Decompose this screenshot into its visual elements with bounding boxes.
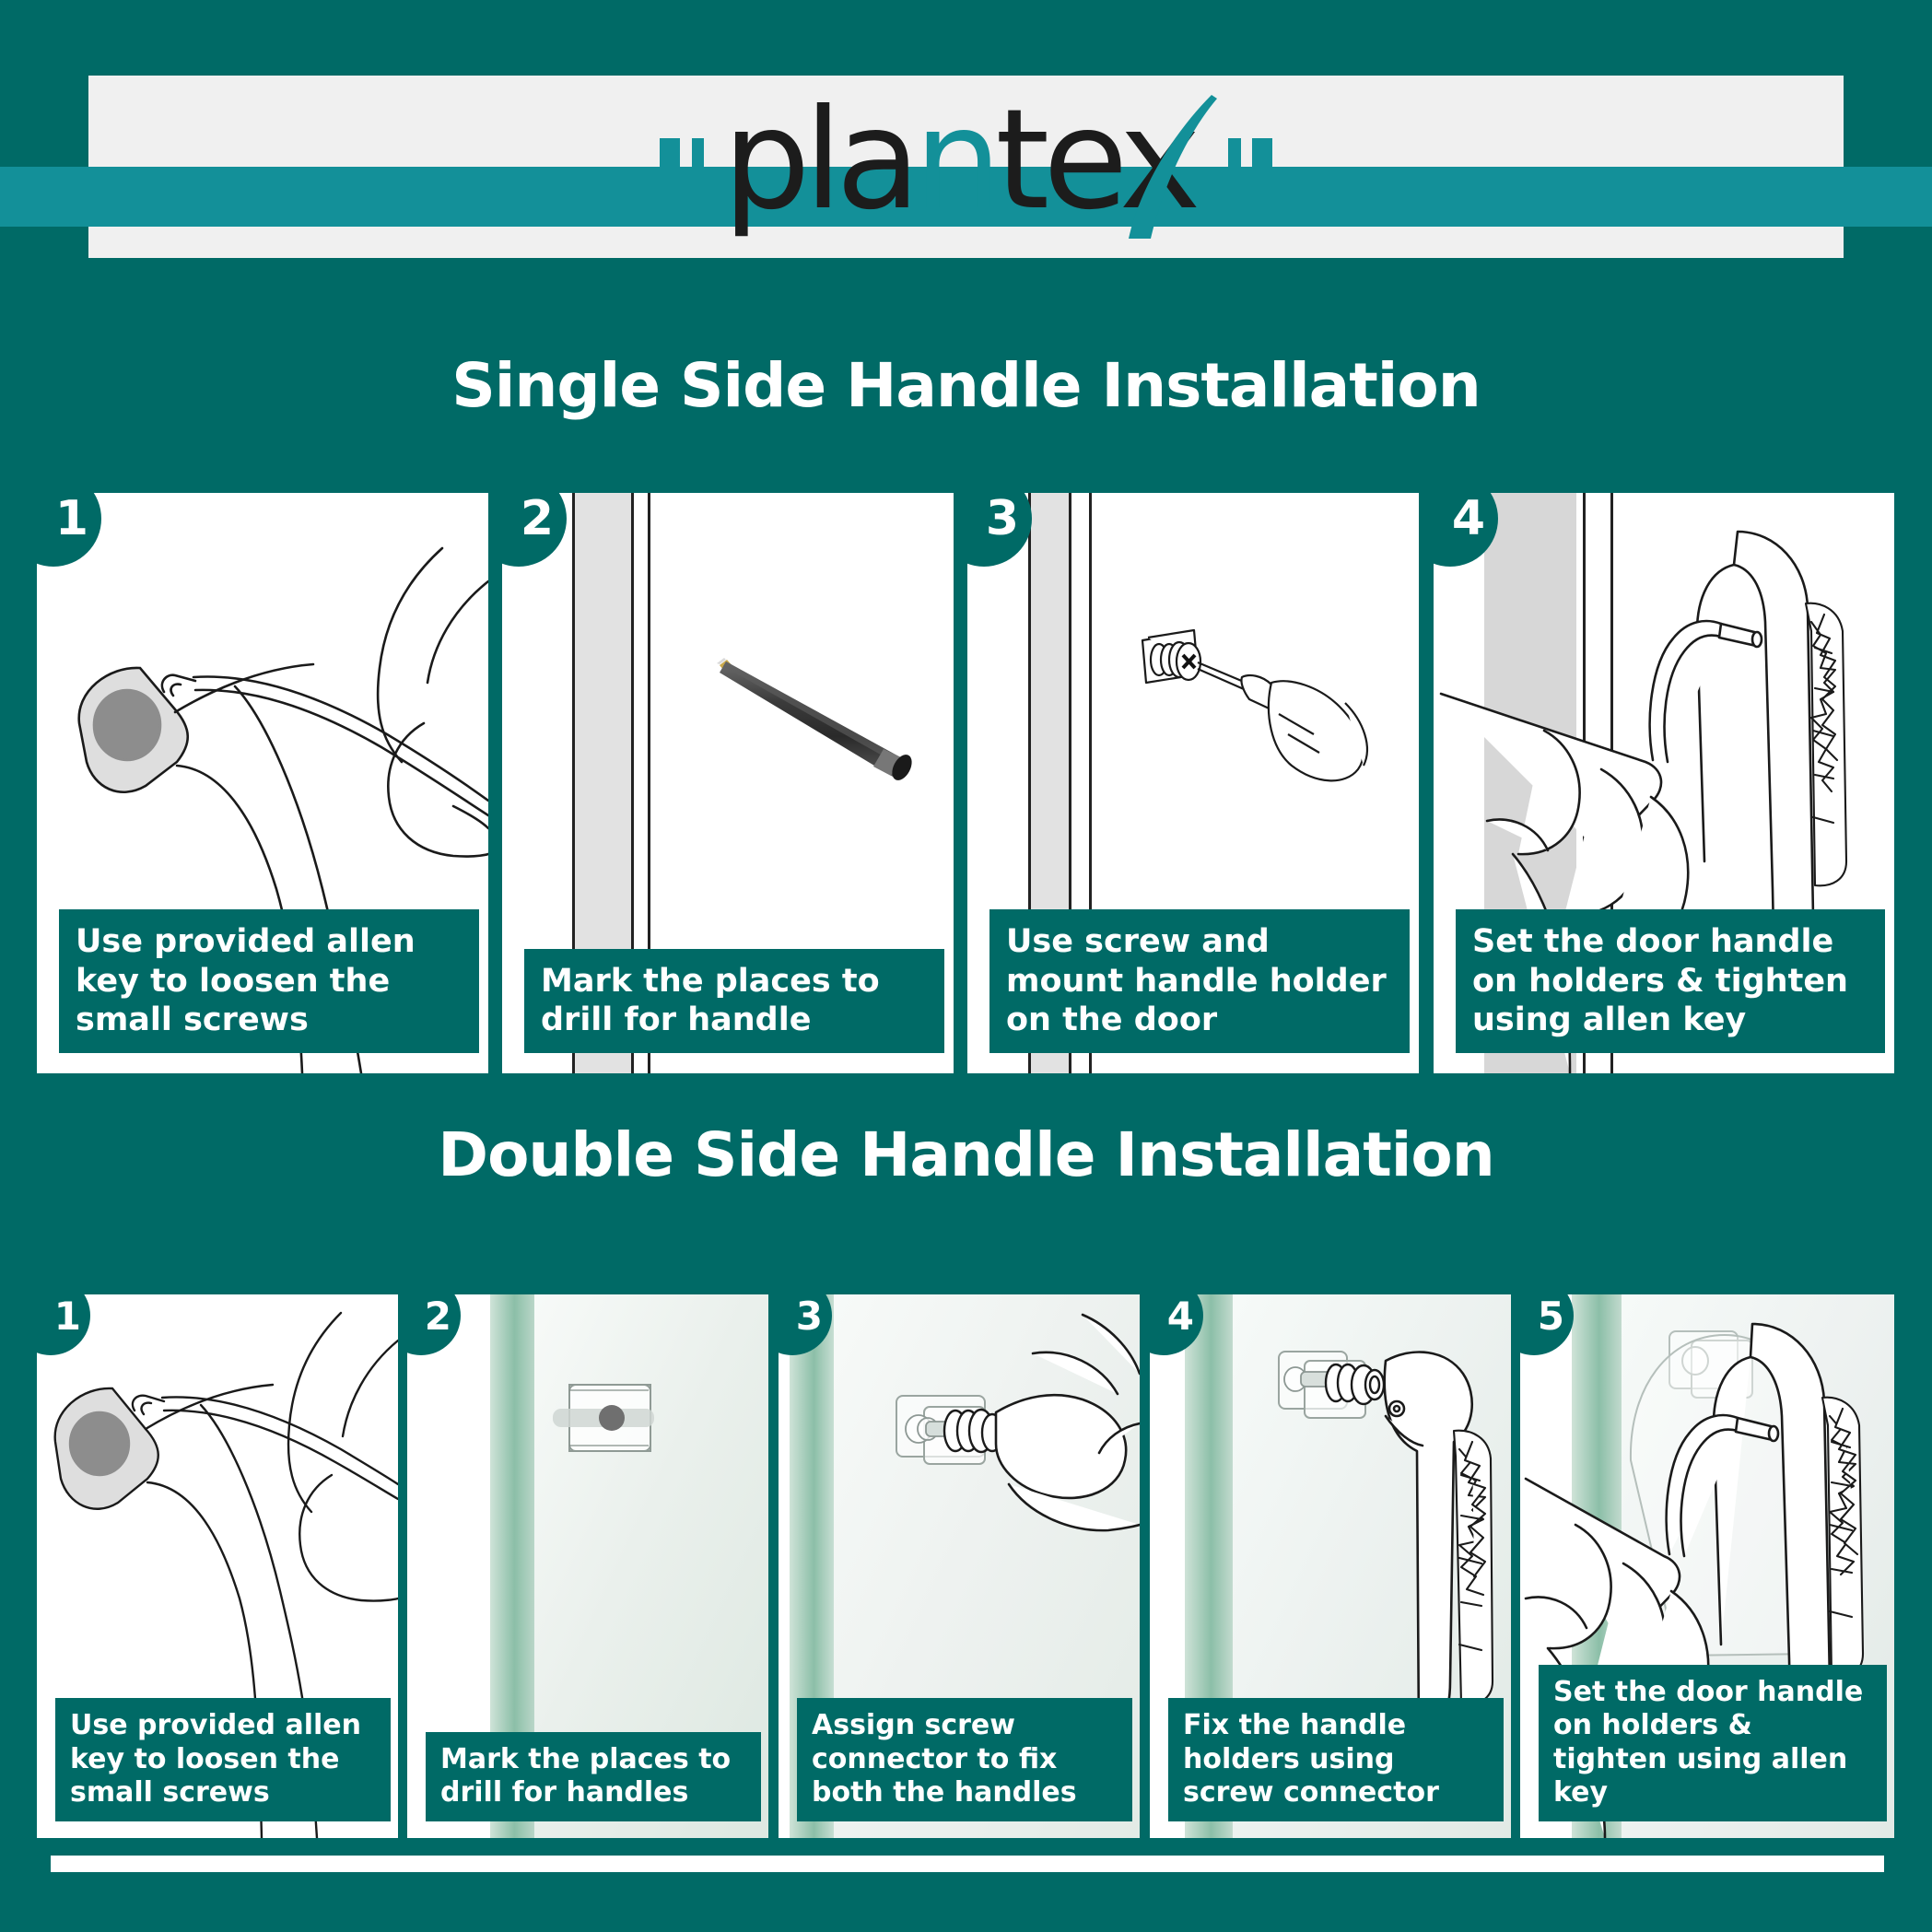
- step-caption: Set the door handle on holders & tighten…: [1456, 909, 1885, 1053]
- step-caption: Fix the handle holders using screw conne…: [1168, 1698, 1504, 1821]
- step-panel-single-2: 2 Mark the places to drill for handle: [502, 493, 954, 1073]
- section-title-single: Single Side Handle Installation: [0, 350, 1932, 421]
- section-title-double: Double Side Handle Installation: [0, 1119, 1932, 1190]
- step-panel-single-3: 3 Use screw and mount handle holder on t…: [967, 493, 1419, 1073]
- step-panel-single-4: 4 Set the door handle on holders & tight…: [1434, 493, 1894, 1073]
- brand-header: plantex: [0, 42, 1932, 291]
- brand-logo: plantex: [0, 42, 1932, 291]
- step-caption: Mark the places to drill for handle: [524, 949, 944, 1053]
- logo-tick-right-small-icon: [1228, 138, 1241, 195]
- logo-wordmark: plantex: [722, 91, 1194, 242]
- step-caption: Assign screw connector to fix both the h…: [797, 1698, 1132, 1821]
- step-caption: Use screw and mount handle holder on the…: [989, 909, 1410, 1053]
- step-panel-single-1: 1 Use provided allen key to loosen the s…: [37, 493, 488, 1073]
- logo-tick-right-icon: [1252, 138, 1272, 195]
- step-panel-double-1: 1 Use provided allen key to loosen the s…: [37, 1294, 398, 1838]
- step-caption: Use provided allen key to loosen the sma…: [59, 909, 479, 1053]
- step-panel-double-4: 4 Fix the handle holders using screw con…: [1150, 1294, 1511, 1838]
- step-caption: Use provided allen key to loosen the sma…: [55, 1698, 391, 1821]
- logo-part-2: tex: [995, 80, 1194, 240]
- step-panel-double-5: 5 Set the door handle on holders & tight…: [1520, 1294, 1894, 1838]
- logo-tick-left-small-icon: [692, 138, 704, 195]
- logo-part-1: pla: [722, 80, 914, 240]
- logo-part-n: n: [914, 80, 995, 240]
- step-caption: Mark the places to drill for handles: [426, 1732, 761, 1821]
- logo-tick-left-icon: [660, 138, 680, 195]
- step-caption: Set the door handle on holders & tighten…: [1539, 1665, 1887, 1821]
- step-panel-double-3: 3 Assign screw connector to fix both the…: [779, 1294, 1140, 1838]
- footer-divider: [51, 1856, 1884, 1872]
- step-panel-double-2: 2 Mark the places to drill for handles: [407, 1294, 768, 1838]
